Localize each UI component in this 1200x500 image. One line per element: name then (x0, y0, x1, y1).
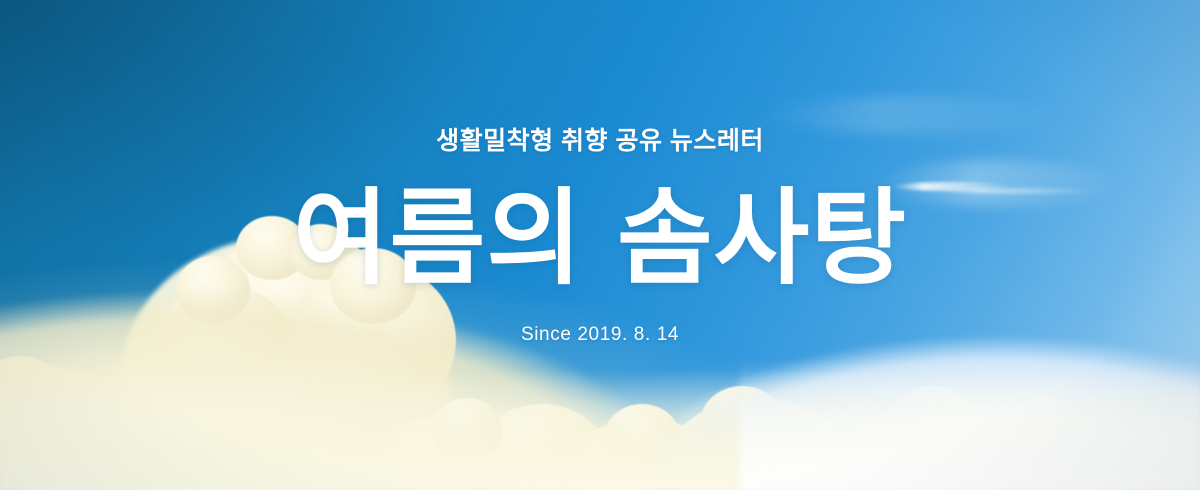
hero-title-word-1: 여름의 (293, 181, 583, 297)
newsletter-hero-banner: 생활밀착형 취향 공유 뉴스레터 여름의솜사탕 Since 2019. 8. 1… (0, 0, 1200, 500)
cloud-floor-right-tint (740, 360, 1200, 490)
bottom-white-trim (0, 490, 1200, 500)
hero-title-word-2: 솜사탕 (617, 181, 907, 297)
hero-subtitle: 생활밀착형 취향 공유 뉴스레터 (0, 126, 1200, 157)
hero-title: 여름의솜사탕 (0, 183, 1200, 295)
hero-since-date: Since 2019. 8. 14 (0, 324, 1200, 346)
hero-text-block: 생활밀착형 취향 공유 뉴스레터 여름의솜사탕 Since 2019. 8. 1… (0, 126, 1200, 346)
